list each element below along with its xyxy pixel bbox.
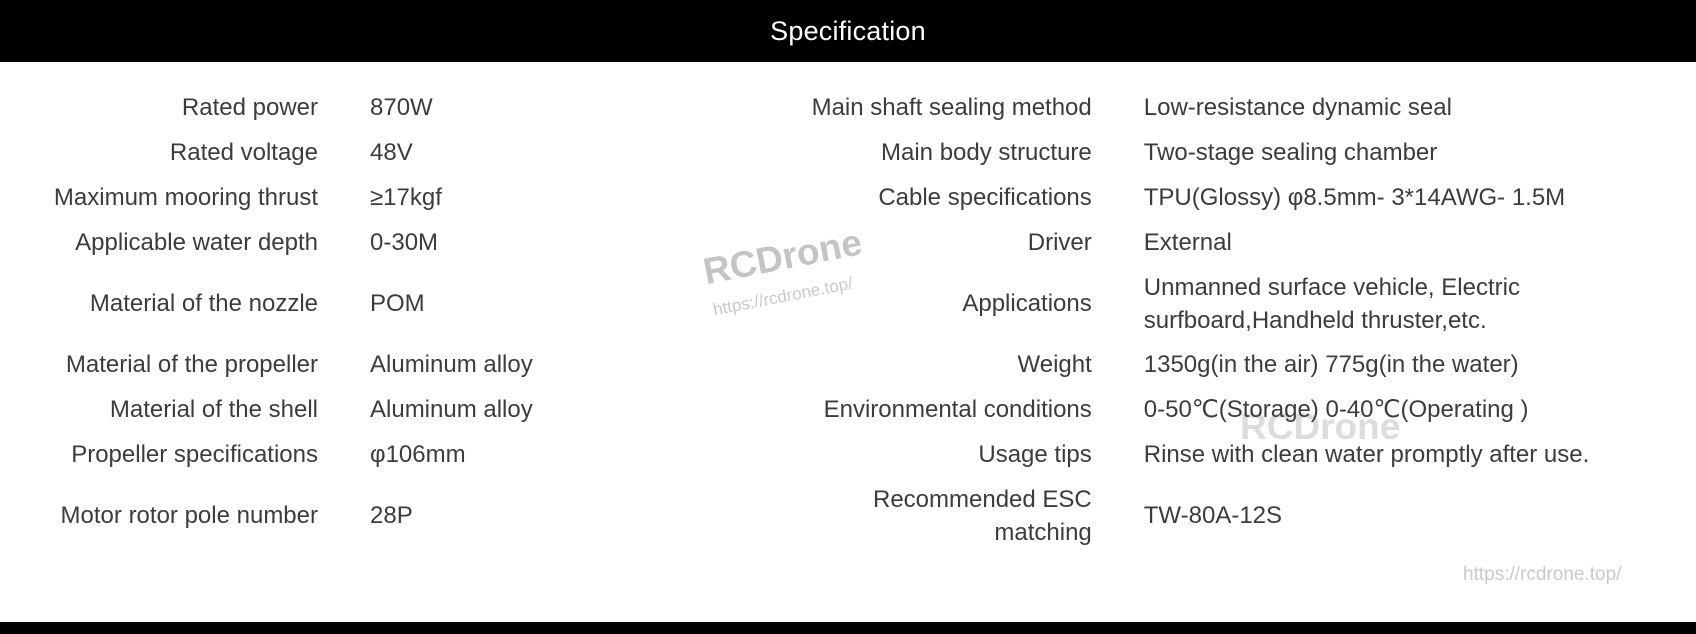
spec-value: Low-resistance dynamic seal xyxy=(1144,91,1696,124)
spec-label: Material of the shell xyxy=(0,393,318,426)
spec-value: 28P xyxy=(370,499,790,532)
table-row: Recommended ESC matching TW-80A-12S xyxy=(790,483,1696,549)
spec-value: External xyxy=(1144,226,1696,259)
table-row: Motor rotor pole number 28P xyxy=(0,499,790,532)
spec-label: Material of the nozzle xyxy=(0,287,318,320)
spec-value: ≥17kgf xyxy=(370,181,790,214)
footer-bar xyxy=(0,622,1696,634)
spec-label: Usage tips xyxy=(790,438,1092,471)
page-title: Specification xyxy=(0,0,1696,62)
spec-value: POM xyxy=(370,287,790,320)
spec-label: Material of the propeller xyxy=(0,348,318,381)
spec-value: 870W xyxy=(370,91,790,124)
spec-label: Propeller specifications xyxy=(0,438,318,471)
spec-value: TPU(Glossy) φ8.5mm- 3*14AWG- 1.5M xyxy=(1144,181,1696,214)
table-row: Environmental conditions 0-50℃(Storage) … xyxy=(790,393,1696,426)
spec-label: Rated voltage xyxy=(0,136,318,169)
table-row: Material of the shell Aluminum alloy xyxy=(0,393,790,426)
table-row: Main body structure Two-stage sealing ch… xyxy=(790,136,1696,169)
spec-column-right: Main shaft sealing method Low-resistance… xyxy=(790,62,1696,622)
spec-label: Cable specifications xyxy=(790,181,1092,214)
spec-label: Motor rotor pole number xyxy=(0,499,318,532)
specification-page: Specification RCDrone Rated power 870W R… xyxy=(0,0,1696,634)
spec-label: Driver xyxy=(790,226,1092,259)
spec-label: Recommended ESC matching xyxy=(790,483,1092,549)
table-row: Usage tips Rinse with clean water prompt… xyxy=(790,438,1696,471)
table-row: Material of the nozzle POM xyxy=(0,287,790,320)
spec-table: Rated power 870W Rated voltage 48V Maxim… xyxy=(0,62,1696,622)
spec-value: 48V xyxy=(370,136,790,169)
spec-value: 1350g(in the air) 775g(in the water) xyxy=(1144,348,1696,381)
spec-label: Rated power xyxy=(0,91,318,124)
spec-label: Weight xyxy=(790,348,1092,381)
spec-label: Applicable water depth xyxy=(0,226,318,259)
table-row: Propeller specifications φ106mm xyxy=(0,438,790,471)
spec-value: 0-50℃(Storage) 0-40℃(Operating ) xyxy=(1144,393,1696,426)
spec-value: Aluminum alloy xyxy=(370,393,790,426)
table-row: Applications Unmanned surface vehicle, E… xyxy=(790,271,1696,337)
spec-value: Rinse with clean water promptly after us… xyxy=(1144,438,1696,471)
spec-label: Environmental conditions xyxy=(790,393,1092,426)
spec-column-left: Rated power 870W Rated voltage 48V Maxim… xyxy=(0,62,790,622)
table-row: Weight 1350g(in the air) 775g(in the wat… xyxy=(790,348,1696,381)
spec-value: φ106mm xyxy=(370,438,790,471)
table-row: Material of the propeller Aluminum alloy xyxy=(0,348,790,381)
spec-label: Main body structure xyxy=(790,136,1092,169)
spec-value: Aluminum alloy xyxy=(370,348,790,381)
table-row: Main shaft sealing method Low-resistance… xyxy=(790,91,1696,124)
table-row: Applicable water depth 0-30M xyxy=(0,226,790,259)
spec-label: Applications xyxy=(790,271,1092,320)
table-row: Rated power 870W xyxy=(0,91,790,124)
table-row: Driver External xyxy=(790,226,1696,259)
table-row: Cable specifications TPU(Glossy) φ8.5mm-… xyxy=(790,181,1696,214)
spec-value: Unmanned surface vehicle, Electric surfb… xyxy=(1144,271,1696,337)
spec-label: Maximum mooring thrust xyxy=(0,181,318,214)
table-row: Rated voltage 48V xyxy=(0,136,790,169)
spec-label: Main shaft sealing method xyxy=(790,91,1092,124)
spec-value: TW-80A-12S xyxy=(1144,483,1696,532)
table-row: Maximum mooring thrust ≥17kgf xyxy=(0,181,790,214)
spec-value: 0-30M xyxy=(370,226,790,259)
spec-value: Two-stage sealing chamber xyxy=(1144,136,1696,169)
